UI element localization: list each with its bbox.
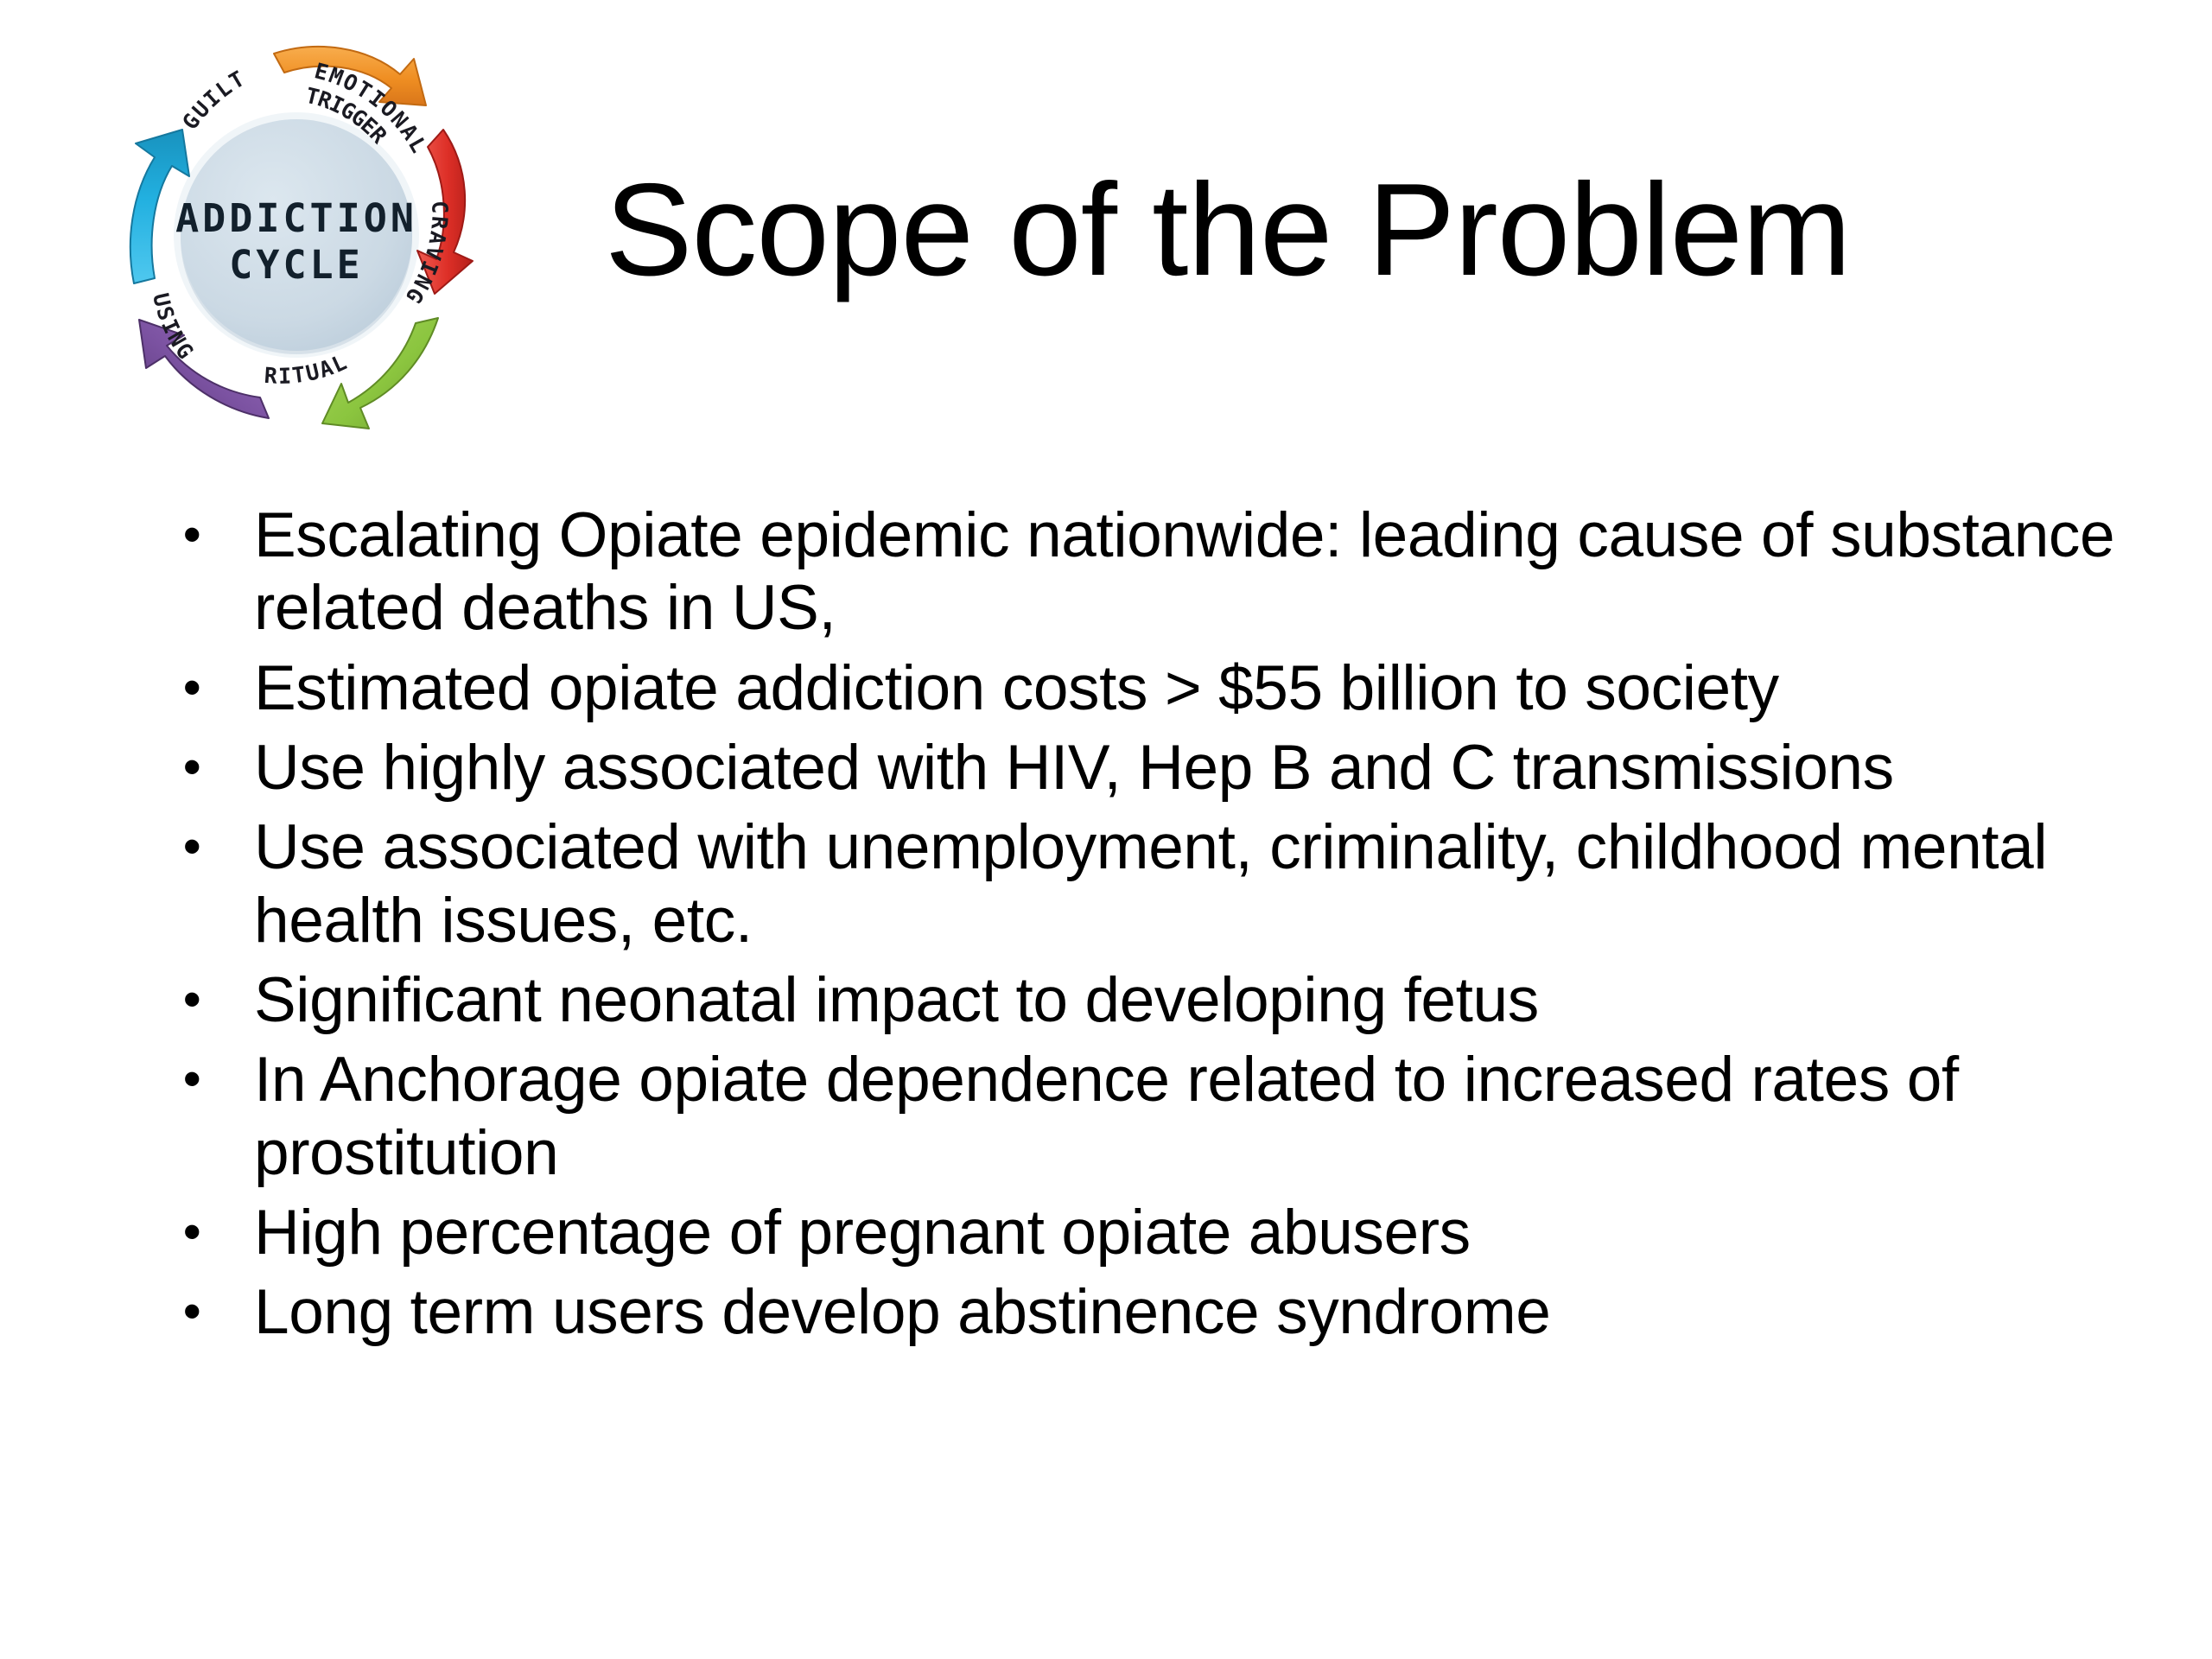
list-item: • Escalating Opiate epidemic nationwide:… — [161, 499, 2157, 645]
list-item: • Use associated with unemployment, crim… — [161, 811, 2157, 957]
list-item-text: Estimated opiate addiction costs > $55 b… — [254, 652, 2157, 725]
bullet-list: • Escalating Opiate epidemic nationwide:… — [161, 499, 2157, 1356]
list-item-text: High percentage of pregnant opiate abuse… — [254, 1197, 2157, 1269]
addiction-cycle-graphic: ADDICTION CYCLE — [82, 9, 514, 458]
cycle-label-guilt: GUILT — [177, 65, 250, 134]
list-item: • Long term users develop abstinence syn… — [161, 1276, 2157, 1349]
list-item: • Estimated opiate addiction costs > $55… — [161, 652, 2157, 725]
slide-canvas: ADDICTION CYCLE — [0, 0, 2212, 1659]
bullet-marker: • — [175, 732, 209, 804]
page-title: Scope of the Problem — [605, 164, 1815, 296]
cycle-center-line1: ADDICTION — [175, 195, 417, 241]
bullet-marker: • — [175, 1044, 209, 1116]
bullet-marker: • — [175, 1197, 209, 1268]
list-item: • Significant neonatal impact to develop… — [161, 964, 2157, 1037]
bullet-marker: • — [175, 499, 209, 571]
list-item: • High percentage of pregnant opiate abu… — [161, 1197, 2157, 1269]
bullet-marker: • — [175, 964, 209, 1036]
list-item-text: Long term users develop abstinence syndr… — [254, 1276, 2157, 1349]
bullet-marker: • — [175, 1276, 209, 1348]
list-item-text: Escalating Opiate epidemic nationwide: l… — [254, 499, 2157, 645]
bullet-marker: • — [175, 811, 209, 883]
list-item-text: Significant neonatal impact to developin… — [254, 964, 2157, 1037]
cycle-center-line2: CYCLE — [229, 242, 363, 288]
list-item: • Use highly associated with HIV, Hep B … — [161, 732, 2157, 804]
list-item-text: Use highly associated with HIV, Hep B an… — [254, 732, 2157, 804]
list-item: • In Anchorage opiate dependence related… — [161, 1044, 2157, 1190]
list-item-text: Use associated with unemployment, crimin… — [254, 811, 2157, 957]
bullet-marker: • — [175, 652, 209, 724]
list-item-text: In Anchorage opiate dependence related t… — [254, 1044, 2157, 1190]
